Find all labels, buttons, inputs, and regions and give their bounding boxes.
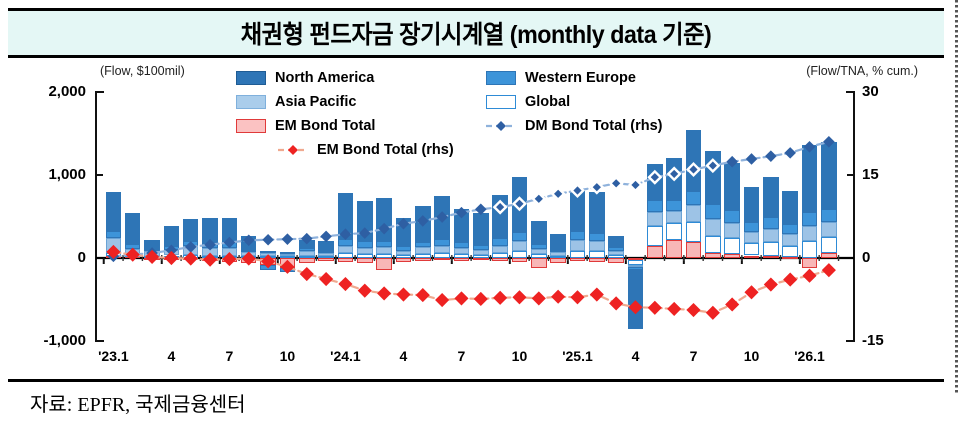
legend-item[interactable]: EM Bond Total (rhs) [278,142,454,158]
legend-swatch-icon [236,71,266,85]
em-line-marker [184,252,197,265]
line-series-layer [96,92,854,341]
em-line-marker [358,284,371,297]
plot-area [96,92,854,341]
x-axis-tick-11: 10 [722,348,782,364]
em-line-marker [706,306,719,319]
em-line-marker [590,288,603,301]
em-line-marker [223,253,236,266]
legend-label: DM Bond Total (rhs) [525,118,662,134]
chart-canvas: (Flow, $100mil) (Flow/TNA, % cum.) 2,000… [0,56,960,372]
legend-label: Asia Pacific [275,94,356,110]
em-line-marker [552,290,565,303]
dm-line-marker [804,141,816,153]
x-axis-tick-0: '23.1 [83,348,143,364]
em-line-marker [262,255,275,268]
dm-line-marker [340,228,352,240]
em-line-marker [455,292,468,305]
em-line-marker [571,291,584,304]
em-line-marker [532,292,545,305]
em-line-marker [726,298,739,311]
x-axis-tick-5: 4 [373,348,433,364]
y2-axis-tick-1: 15 [862,166,879,183]
dm-line-marker [456,207,468,219]
y-axis-tick-1: 1,000 [8,166,86,183]
em-line-marker [764,278,777,291]
legend-item[interactable]: Asia Pacific [236,94,356,110]
em-line-marker [668,302,681,315]
dm-line-marker [417,215,429,227]
dm-line-marker [610,178,622,190]
dm-line-marker [533,193,545,205]
legend-label: Western Europe [525,70,636,86]
dm-line-marker [707,160,719,172]
legend-label: EM Bond Total [275,118,375,134]
legend-swatch-icon [486,95,516,109]
chart-page: 채권형 펀드자금 장기시계열 (monthly data 기준) (Flow, … [0,0,960,427]
dm-line-marker [784,147,796,159]
dm-line-marker [378,223,390,235]
legend-label: Global [525,94,570,110]
legend-line-icon [486,119,516,133]
page-title: 채권형 펀드자금 장기시계열 (monthly data 기준) [241,15,712,51]
em-line-marker [204,253,217,266]
x-axis-tick-4: '24.1 [315,348,375,364]
em-line-marker [300,268,313,281]
footer-divider [8,379,944,382]
x-axis-tick-6: 7 [431,348,491,364]
em-line-marker [803,269,816,282]
legend-label: EM Bond Total (rhs) [317,142,454,158]
y-axis-tick-3: -1,000 [8,332,86,349]
dm-line-marker [359,227,371,239]
em-line-marker [281,260,294,273]
em-line-marker [436,294,449,307]
y2-axis-tick-3: -15 [862,332,884,349]
em-line-marker [494,291,507,304]
dm-line-marker [765,150,777,162]
y-axis-tick-0: 2,000 [8,83,86,100]
em-line-marker [397,288,410,301]
legend-line-icon [278,143,308,157]
dm-line-marker [746,153,758,165]
dm-line-marker [262,234,274,246]
dm-line-marker [591,181,603,193]
dm-line-marker [688,164,700,176]
legend-swatch-icon [236,119,266,133]
dm-line-marker [475,204,487,216]
dm-line-marker [494,201,506,213]
dm-line-marker [301,233,313,245]
x-axis-tick-9: 4 [605,348,665,364]
dm-line-marker [320,231,332,243]
em-line-marker [242,252,255,265]
dm-line-marker [552,188,564,200]
em-line-marker [378,287,391,300]
dm-line-marker [823,136,835,148]
dm-line-marker [224,237,236,249]
legend-item[interactable]: Global [486,94,570,110]
legend-item[interactable]: DM Bond Total (rhs) [486,118,662,134]
em-line-marker [513,291,526,304]
y-axis-tick-2: 0 [8,249,86,266]
x-axis-tick-1: 4 [141,348,201,364]
em-line-marker [822,264,835,277]
legend-label: North America [275,70,374,86]
legend-swatch-icon [236,95,266,109]
legend-item[interactable]: EM Bond Total [236,118,375,134]
legend-swatch-icon [486,71,516,85]
em-line-marker [165,252,178,265]
em-line-marker [629,301,642,314]
em-line-marker [745,286,758,299]
x-axis-tick-3: 10 [257,348,317,364]
em-line-marker [416,289,429,302]
chart-title-bar: 채권형 펀드자금 장기시계열 (monthly data 기준) [8,8,944,58]
dm-line-marker [726,156,738,168]
dm-line-marker [398,218,410,230]
legend-item[interactable]: Western Europe [486,70,636,86]
source-note: 자료: EPFR, 국제금융센터 [30,388,246,417]
legend-item[interactable]: North America [236,70,374,86]
x-axis-tick-7: 10 [489,348,549,364]
x-axis-tick-10: 7 [664,348,724,364]
dm-line-marker [514,198,526,210]
dm-line-marker [282,233,294,245]
dm-line-marker [649,171,661,183]
em-line-marker [784,273,797,286]
em-line-marker [610,297,623,310]
right-axis-note: (Flow/TNA, % cum.) [806,64,918,78]
em-line-marker [126,248,139,261]
em-line-marker [648,301,661,314]
dm-line-marker [436,211,448,223]
x-axis-tick-8: '25.1 [547,348,607,364]
x-axis-tick-12: '26.1 [780,348,840,364]
y2-axis-tick-0: 30 [862,83,879,100]
left-axis-note: (Flow, $100mil) [100,64,185,78]
dm-line-marker [630,179,642,191]
dm-line-marker [204,239,216,251]
dm-line-marker [185,241,197,253]
dm-line-marker [668,168,680,180]
y2-axis-tick-2: 0 [862,249,870,266]
x-axis-tick-2: 7 [199,348,259,364]
dm-line-marker [572,185,584,197]
em-line-marker [474,292,487,305]
em-line-marker [687,304,700,317]
dm-line-marker [243,234,255,246]
em-line-marker [339,278,352,291]
em-line-marker [320,273,333,286]
